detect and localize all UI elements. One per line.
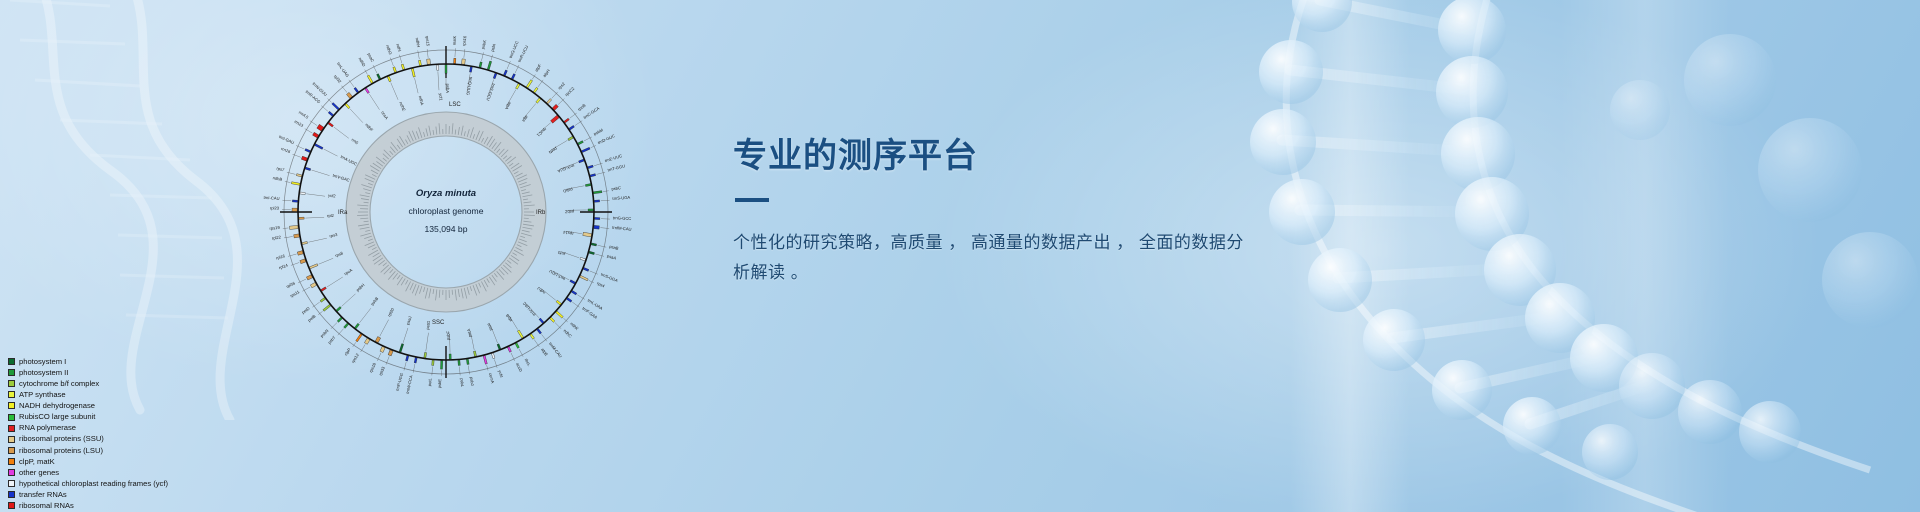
svg-text:IRa: IRa [338,210,348,216]
gene-label: rpoC2 [564,85,576,97]
gene-label: ndhG [385,44,393,55]
gene-feature-box [580,275,588,280]
gene-label: ycf2 [328,193,337,199]
gene-feature-box [580,257,586,261]
legend-item-label: NADH dehydrogenase [19,402,95,410]
gene-label: psbI [490,43,497,52]
gene-label: trnR-UCU [517,45,529,63]
legend-item-label: photosystem II [19,369,68,377]
gene-feature-box [292,200,297,202]
legend-item: transfer RNAs [8,489,168,500]
gene-feature-box [300,259,306,264]
legend-item: RubisCO large subunit [8,411,168,422]
legend-item: hypothetical chloroplast reading frames … [8,478,168,489]
legend-color-swatch [8,358,15,365]
legend-item: photosystem I [8,356,168,367]
gene-feature-box [504,70,508,76]
gene-feature-box [479,62,482,68]
gene-label: ycf3 [557,250,566,257]
legend-color-swatch [8,480,15,487]
gene-label: trnM-CAU [548,341,563,358]
title-underline-rule [735,198,769,202]
gene-label: petL [427,377,433,386]
gene-label: trnE-UUC [604,153,622,163]
gene-label: trnY-GUA [557,163,575,174]
gene-label: rpl33 [378,365,386,376]
gene-label: ndhE [398,101,406,112]
legend-item-label: ATP synthase [19,391,66,399]
legend-item-label: transfer RNAs [19,491,67,499]
gene-label: trnT-GGU [607,163,625,172]
gene-feature-box [354,87,359,92]
gene-label: ndhI [395,43,402,52]
legend-item-label: photosystem I [19,358,66,366]
gene-feature-box [593,191,602,194]
gene-label: rpl23 [270,205,280,210]
gene-label: trnV-UAC [521,301,536,317]
legend-color-swatch [8,447,15,454]
gene-label: rps4 [596,281,606,289]
gene-label: psbT [327,334,337,345]
gene-label: atpF [534,63,543,73]
svg-text:SSC: SSC [432,320,445,326]
gene-label: trnG-UCC [508,40,520,59]
gene-label: rpoC1 [535,127,547,139]
gene-feature-box [539,318,544,323]
gene-label: rps11 [289,289,301,299]
gene-feature-box [306,275,312,280]
gene-feature-box [579,159,585,163]
genome-size-label: 135,094 bp [424,224,467,234]
gene-feature-box [320,298,325,303]
gene-feature-box [292,208,297,211]
legend-item: RNA polymerase [8,423,168,434]
gene-label: rps16 [461,35,467,46]
gene-label: petN [548,146,558,155]
gene-label: rpoA [343,267,353,276]
gene-feature-box [583,268,589,272]
legend-color-swatch [8,391,15,398]
gene-feature-box [411,68,415,77]
legend-item-label: ribosomal proteins (SSU) [19,435,104,443]
banner-root: LSC IRb SSC IRa psbAmatKrps16trnQ-UUGpsb… [0,0,1920,512]
gene-label: atpI [521,114,529,122]
gene-label: rpoB [577,103,587,112]
gene-label: trnP-UGG [395,372,405,391]
gene-feature-box [526,80,532,88]
gene-label: trnA-UGC [340,154,358,167]
gene-label: rps18 [368,361,377,373]
gene-feature-box [594,225,600,229]
gene-feature-box [582,147,590,152]
gene-feature-box [461,59,465,65]
gene-feature-box [583,232,592,237]
gene-feature-box [491,353,495,359]
gene-feature-box [449,354,451,359]
legend-color-swatch [8,380,15,387]
gene-label: trnI-GAU [278,134,295,145]
legend-item: clpP, matK [8,456,168,467]
gene-feature-box [355,323,360,328]
gene-label: psaJ [405,316,412,326]
gene-label: petA [466,328,473,338]
legend-item: other genes [8,467,168,478]
gene-label: rpl2 [327,213,335,218]
legend-item-label: ribosomal RNAs [19,502,74,510]
gene-feature-box [300,192,305,195]
legend-item: ribosomal RNAs [8,500,168,511]
gene-feature-box [380,346,385,352]
gene-feature-box [466,359,469,364]
gene-feature-box [301,156,307,161]
legend-item-label: RubisCO large subunit [19,413,95,421]
gene-feature-box [517,330,523,338]
legend-item: NADH dehydrogenase [8,400,168,411]
gene-label: rrn5 [351,137,360,146]
gene-feature-box [305,149,311,153]
light-band-2 [1560,0,1730,512]
gene-label: psaI [486,322,493,331]
gene-feature-box [591,243,597,246]
copy-block: 专业的测序平台 个性化的研究策略，高质量 ， 高通量的数据产出 ， 全面的数据分… [733,136,1293,289]
gene-label: psbA [445,84,450,94]
gene-feature-box [590,174,596,177]
gene-label: ndhH [415,37,422,48]
gene-label: psbJ [469,377,475,386]
gene-feature-box [291,182,300,186]
gene-feature-box [387,76,391,82]
gene-label: trnF-GAA [581,306,598,320]
gene-feature-box [493,73,497,79]
gene-feature-box [507,347,511,353]
gene-label: psbC [611,185,621,191]
gene-label: psbK [480,39,487,49]
gene-feature-box [401,64,404,70]
gene-label: trnfM-CAU [612,225,632,232]
gene-feature-box [556,300,561,305]
gene-feature-box [344,323,349,328]
gene-label: rps12 [350,352,360,364]
gene-feature-box [469,67,472,72]
gene-label: atpA [504,101,513,111]
gene-feature-box [569,125,574,130]
gene-label: psaC [367,52,376,63]
gene-feature-box [564,118,569,123]
gene-label: psaA [607,253,618,260]
helix-spheres-left [1250,0,1638,480]
gene-feature-box [511,74,515,80]
genome-species-name: Oryza minuta [416,188,476,199]
gene-label: trnV-GAC [332,173,350,183]
gene-feature-box [594,200,599,202]
svg-text:IRb: IRb [536,210,546,216]
gene-feature-box [568,136,573,140]
gene-label: ndhA [418,95,425,106]
gene-label: ycf4 [497,369,504,378]
gene-label: rps14 [562,230,574,237]
gene-label: ndhB [272,175,283,182]
gene-feature-box [483,356,487,365]
gene-feature-box [289,225,298,229]
gene-feature-box [424,352,427,357]
gene-feature-box [332,103,339,110]
gene-feature-box [323,304,331,311]
gene-feature-box [309,264,318,269]
legend-item-label: ribosomal proteins (LSU) [19,447,103,455]
gene-feature-box [399,344,404,353]
gene-label: trnS-UGA [612,195,630,201]
gene-feature-box [533,87,538,92]
gene-feature-box [547,99,552,104]
gene-feature-box [550,317,555,322]
gene-feature-box [305,167,311,170]
gene-feature-box [328,122,333,127]
legend-color-swatch [8,502,15,509]
helix-spheres-background [1610,34,1918,328]
helix-spheres-right [1436,0,1801,463]
gene-feature-box [302,241,308,244]
gene-feature-box [454,58,456,63]
gene-label: ndhK [569,321,580,331]
gene-label: atpH [542,68,551,78]
gene-feature-box [296,174,302,177]
gene-feature-box [578,141,584,145]
legend-color-swatch [8,469,15,476]
gene-feature-box [551,115,560,123]
svg-text:LSC: LSC [449,102,461,108]
gene-label: rbcL [524,357,532,367]
page-subtitle: 个性化的研究策略，高质量 ， 高通量的数据产出 ， 全面的数据分析解读 。 [733,228,1258,289]
gene-label: ndhF [364,122,374,133]
gene-label: psbM [593,127,605,136]
page-title: 专业的测序平台 [733,136,1293,176]
gene-label: cemA [488,372,496,384]
gene-feature-box [419,60,422,65]
gene-label: rpl22 [271,234,281,240]
gene-label: rps3 [329,232,339,239]
gene-feature-box [515,343,519,349]
gene-feature-box [497,344,501,350]
gene-label: petG [425,320,431,330]
legend-item-label: hypothetical chloroplast reading frames … [19,480,168,488]
gene-feature-box [537,329,542,334]
legend-color-swatch [8,369,15,376]
gene-feature-box [585,184,590,187]
gene-feature-box [570,280,576,284]
gene-feature-box [595,217,600,219]
gene-feature-box [345,104,350,109]
legend-item-label: RNA polymerase [19,424,76,432]
legend-item-label: clpP, matK [19,458,55,466]
gene-label: rps2 [557,81,567,91]
gene-feature-box [367,75,373,83]
gene-label: rrn16 [280,146,291,154]
gene-feature-box [567,298,572,303]
gene-feature-box [440,361,442,369]
gene-label: accD [515,362,523,373]
gene-feature-box [294,234,300,238]
gene-label: ycf1 [438,93,443,102]
gene-label: psbE [437,379,442,389]
gene-label: psbZ [564,209,574,214]
gene-label: psbN [319,328,329,338]
gene-label: rps8 [334,250,344,258]
gene-label: rpl14 [278,262,289,270]
gene-feature-box [432,360,434,365]
gene-label: psbL [459,378,465,388]
gene-label: rpl16 [275,253,286,260]
gene-feature-box [297,251,303,256]
gene-feature-box [571,290,576,294]
gene-label: rpl32 [333,74,343,85]
gene-label: psbH [355,282,365,292]
gene-label: trnT-UGU [548,269,566,282]
gene-label: trnS-GCU [485,83,496,102]
gene-label: psbB [370,296,380,307]
gene-feature-box [445,65,447,73]
gene-feature-box [487,61,491,70]
gene-feature-box [414,358,417,363]
gene-label: atpE [540,347,549,357]
gene-label: rps7 [276,166,286,173]
chloroplast-genome-map: LSC IRb SSC IRa psbAmatKrps16trnQ-UUGpsb… [236,2,656,422]
gene-label: rps19 [269,225,280,231]
gene-label: trnG-GCC [613,215,632,221]
gene-label: rrn23 [293,119,304,129]
gene-feature-box [337,317,342,322]
gene-label: matK [452,35,458,45]
gene-feature-box [589,251,595,254]
gene-label: rpl36 [285,280,296,289]
legend-item: photosystem II [8,367,168,378]
gene-label: trnI-CAU [263,195,279,201]
gene-label: rrn4.5 [298,110,310,121]
gene-label: clpP [343,347,352,357]
gene-feature-box [516,84,520,90]
gene-label: atpB [504,313,513,323]
gene-label: psbF [445,330,450,340]
gene-feature-box [336,306,341,311]
gene-label: petB [307,313,317,322]
gene-feature-box [365,88,370,93]
legend-color-swatch [8,491,15,498]
genome-map-legend: photosystem Iphotosystem IIcytochrome b/… [8,356,168,511]
gene-feature-box [556,311,564,318]
legend-item: ATP synthase [8,389,168,400]
genome-type-label: chloroplast genome [408,206,483,216]
gene-label: trnW-CCA [405,375,414,394]
gene-label: trnQ-UUG [465,76,473,95]
gene-feature-box [388,350,393,356]
gene-feature-box [530,334,535,339]
gene-label: petD [301,306,311,315]
gene-feature-box [588,165,594,168]
gene-label: ndhD [357,56,366,67]
legend-item-label: other genes [19,469,59,477]
gene-feature-box [315,144,323,150]
legend-color-swatch [8,458,15,465]
gene-feature-box [458,360,460,365]
gene-feature-box [437,65,439,70]
gene-label: psbD [563,187,573,194]
legend-color-swatch [8,425,15,432]
legend-color-swatch [8,436,15,443]
legend-item-label: cytochrome b/f complex [19,380,99,388]
gene-feature-box [588,209,593,211]
gene-label: trnD-GUC [597,133,616,145]
gene-label: ndhJ [536,286,546,295]
gene-feature-box [393,67,397,73]
gene-label: ndhC [563,328,573,339]
gene-feature-box [377,74,381,80]
legend-item: cytochrome b/f complex [8,378,168,389]
legend-color-swatch [8,402,15,409]
gene-feature-box [356,334,362,342]
legend-item: ribosomal proteins (SSU) [8,434,168,445]
gene-label: ccsA [380,110,389,120]
legend-item: ribosomal proteins (LSU) [8,445,168,456]
gene-label: trnS-GGA [600,272,619,284]
gene-feature-box [473,351,476,356]
gene-feature-box [536,98,541,103]
legend-color-swatch [8,414,15,421]
gene-label: psaB [609,244,619,251]
gene-feature-box [328,111,333,116]
gene-feature-box [321,287,326,291]
gene-label: rpl20 [386,306,395,317]
gene-feature-box [427,59,431,65]
gene-feature-box [299,217,304,219]
gene-feature-box [406,356,409,362]
light-band-1 [1290,0,1410,512]
gene-label: rps15 [425,35,431,46]
